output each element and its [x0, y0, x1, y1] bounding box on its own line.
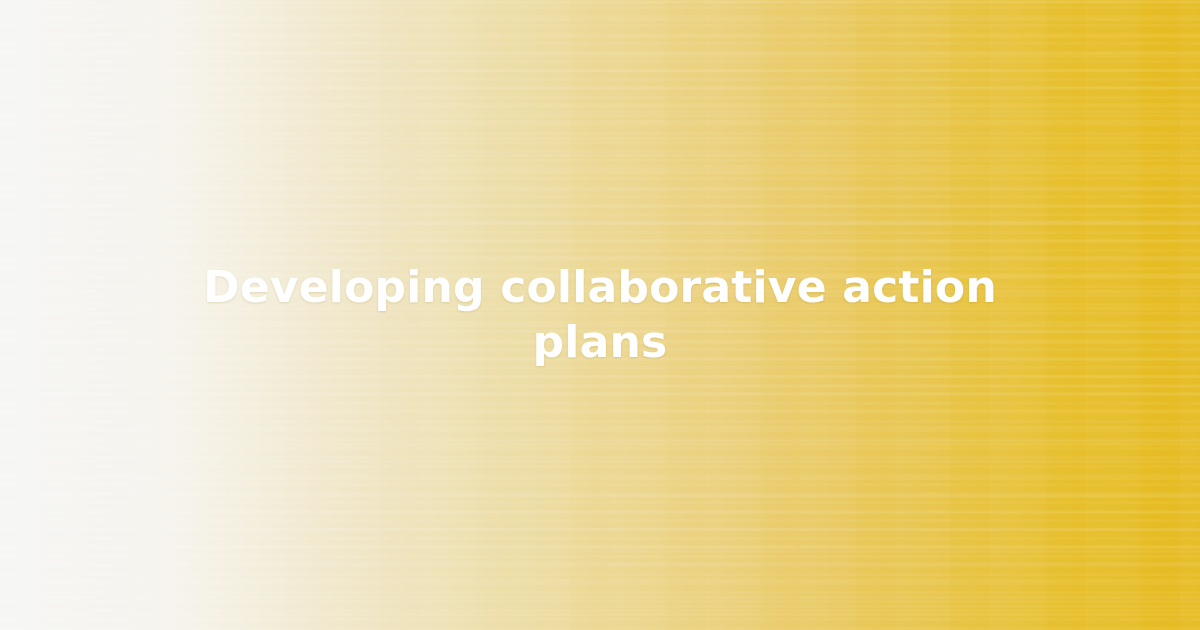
title-container: Developing collaborative action plans [0, 0, 1200, 630]
page-title: Developing collaborative action plans [150, 260, 1050, 371]
hero-banner: Developing collaborative action plans [0, 0, 1200, 630]
